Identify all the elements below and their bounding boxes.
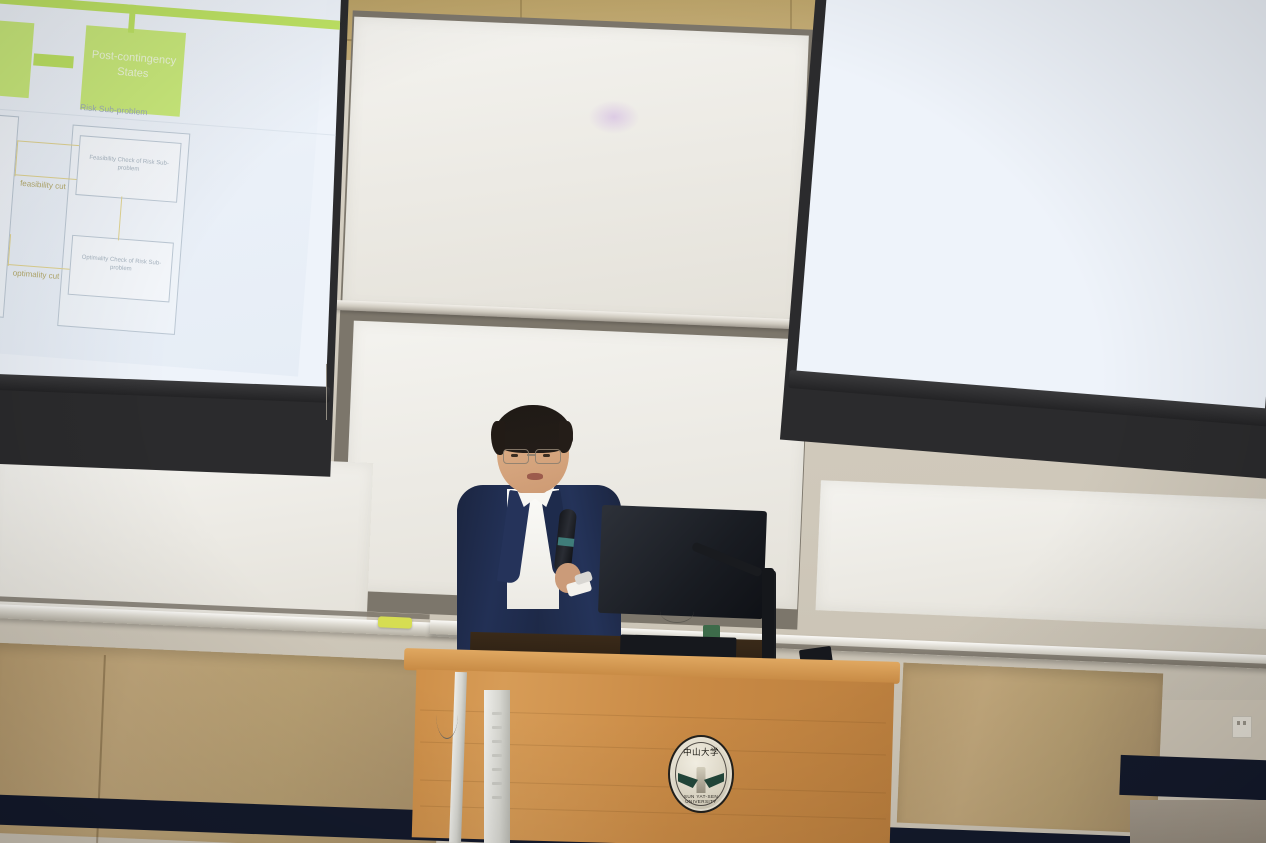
whiteboard-marker[interactable] — [378, 616, 412, 628]
wall-outlet[interactable] — [1232, 716, 1252, 738]
wall-cabinet-right — [897, 663, 1163, 834]
left-green-box-a — [0, 16, 34, 98]
lecture-hall-photo: Benders Decomposition Feasibility Cut Po… — [0, 0, 1266, 843]
floor — [1130, 800, 1266, 843]
hair-side-right — [559, 421, 573, 453]
baseboard-right — [1119, 755, 1266, 801]
eyeglasses-bridge — [527, 454, 536, 456]
crest-chinese-name: 中山大学 — [670, 746, 732, 758]
crest-english-name: SUN YAT-SEN UNIVERSITY — [670, 794, 732, 804]
monitor-cable — [660, 600, 694, 623]
microphone-band — [558, 537, 575, 547]
whiteboard-upper — [342, 17, 809, 326]
left-slide-content: Benders Decomposition Feasibility Cut Po… — [0, 0, 330, 377]
left-green-box-label: Post-contingency States — [82, 47, 184, 84]
podium-cable — [436, 690, 458, 739]
mouth — [527, 473, 543, 480]
microphone-stand[interactable] — [762, 568, 774, 670]
university-crest: 中山大学 SUN YAT-SEN UNIVERSITY — [668, 735, 734, 813]
whiteboard-right — [815, 480, 1266, 630]
projection-screen-left: Benders Decomposition Feasibility Cut Po… — [0, 0, 340, 470]
projection-screen-right: ive Risk-based SCOPF Nested Benders Deco… — [800, 0, 1266, 480]
